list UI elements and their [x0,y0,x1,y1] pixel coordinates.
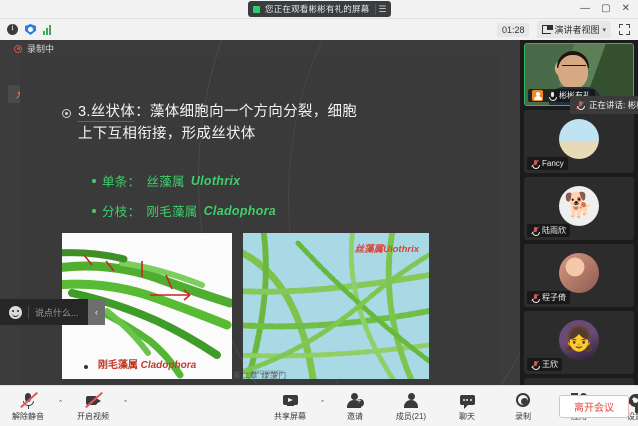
participant-rail[interactable]: 彬彬有礼 Fancy 陆雨欣 程子倚 [520,40,638,385]
subitem-1-latin: Ulothrix [191,174,241,188]
presentation-slide: 3.丝状体：藻体细胞向一个方向分裂，细胞 上下互相衔接，形成丝状体 单条： 丝藻… [20,57,500,385]
cladophora-label: 刚毛藻属 Cladophora [98,356,196,371]
info-icon[interactable] [7,24,18,35]
mic-options-chevron-icon[interactable]: ⌃ [56,399,65,407]
chat-label: 聊天 [459,411,475,422]
close-button[interactable]: ✕ [622,4,630,14]
ulothrix-artwork: microscopy [243,233,429,379]
share-options-chevron-icon[interactable]: ⌃ [318,399,327,407]
participant-name: 王欣 [542,359,558,370]
speaking-mic-icon [576,101,584,109]
slide-heading-row: 3.丝状体：藻体细胞向一个方向分裂，细胞 上下互相衔接，形成丝状体 [62,102,462,146]
avatar [559,119,599,159]
chat-icon [459,392,476,409]
record-icon [515,392,532,409]
participant-namebar: Fancy [527,157,568,170]
invite-button[interactable]: 邀请 [327,386,383,426]
subitem-2-latin: Cladophora [204,204,276,218]
share-notice-text: 您正在观看彬彬有礼的屏幕 [265,3,369,15]
participant-name: 陆雨欣 [542,225,566,236]
subitem-2-genus: 刚毛藻属 [146,201,197,220]
signal-icon[interactable] [43,24,54,35]
host-badge-icon [532,90,543,101]
meeting-toolbar: 解除静音 ⌃ 开启视频 ⌃ [0,385,638,426]
share-screen-label: 共享屏幕 [274,411,306,422]
participant-tile[interactable]: 程子倚 [524,244,634,307]
emoji-icon[interactable] [9,306,22,319]
participants-button[interactable]: 成员(21) [383,386,439,426]
window-controls: — ▢ ✕ [580,0,634,18]
title-bar: 您正在观看彬彬有礼的屏幕 ☰ — ▢ ✕ [0,0,638,18]
participant-namebar: 王欣 [527,358,562,371]
slide-heading: 3.丝状体：藻体细胞向一个方向分裂，细胞 上下互相衔接，形成丝状体 [78,102,357,146]
participant-tile[interactable]: Fancy [524,110,634,173]
camera-off-icon [85,392,102,409]
chevron-down-icon: ▾ [602,26,606,34]
participants-icon [403,392,420,409]
view-mode-label: 演讲者视图 [554,23,599,36]
leave-meeting-button[interactable]: 离开会议 [559,395,629,418]
status-left-icons [0,24,54,35]
mic-muted-icon [531,294,539,302]
subitem-1-prefix: 单条： [102,171,140,190]
shared-screen-stage[interactable]: 录制中 📌 锁定画面 3.丝状体：藻体细胞向一个方向分裂，细胞 上下互相衔接，形… [0,40,520,385]
meeting-status-bar: 01:28 演讲者视图 ▾ [0,18,638,40]
mic-icon [548,92,556,100]
zoom-meeting-window: 您正在观看彬彬有礼的屏幕 ☰ — ▢ ✕ 01:28 演讲者视图 ▾ [0,0,638,426]
participants-label: 成员(21) [396,411,426,422]
chat-collapse-button[interactable]: ‹ [88,299,105,325]
start-video-label: 开启视频 [77,411,109,422]
record-label: 录制 [515,411,531,422]
invite-label: 邀请 [347,411,363,422]
toolbar-buttons: 解除静音 ⌃ 开启视频 ⌃ [0,386,638,426]
share-menu-icon[interactable]: ☰ [375,4,386,15]
slide-subitem-2: 分枝： 刚毛藻属 Cladophora [92,201,276,220]
unmute-button[interactable]: 解除静音 [0,386,56,426]
participant-name: 程子倚 [542,292,566,303]
meeting-timer: 01:28 [497,23,530,37]
participant-tile[interactable]: プロバパ [524,378,634,385]
mic-muted-icon [531,160,539,168]
chat-input-placeholder[interactable]: 说点什么... [28,306,79,319]
view-mode-selector[interactable]: 演讲者视图 ▾ [537,21,611,38]
slide-heading-underlined: 3.丝状体 [78,104,135,122]
mic-muted-icon [20,392,37,409]
speaking-tooltip: 正在讲话: 彬彬 [570,96,638,114]
participant-tile[interactable]: 陆雨欣 [524,177,634,240]
unmute-label: 解除静音 [12,411,44,422]
invite-icon [347,392,364,409]
slide-heading-line2: 上下互相衔接，形成丝状体 [78,126,256,142]
maximize-button[interactable]: ▢ [601,4,610,14]
participant-namebar: 陆雨欣 [527,224,570,237]
screen-share-notice[interactable]: 您正在观看彬彬有礼的屏幕 ☰ [248,1,391,17]
speaking-tooltip-text: 正在讲话: 彬彬 [589,99,638,111]
subitem-2-prefix: 分枝： [102,201,140,220]
mic-muted-icon [531,361,539,369]
record-button[interactable]: 录制 [495,386,551,426]
status-right-controls: 01:28 演讲者视图 ▾ [497,21,638,38]
shield-icon[interactable] [25,24,36,35]
subitem-1-genus: 丝藻属 [146,171,184,190]
avatar [559,320,599,360]
slide-footer: 第二章 绿藻门 [20,370,500,381]
share-indicator-icon [253,6,260,13]
participant-name: Fancy [542,159,564,168]
avatar [559,186,599,226]
chat-button[interactable]: 聊天 [439,386,495,426]
recording-label: 录制中 [27,42,54,55]
share-screen-button[interactable]: 共享屏幕 [262,386,318,426]
ulothrix-label: 丝藻属Ulothrix [355,241,419,255]
speaker-view-icon [542,25,551,34]
bullet-icon [62,109,71,118]
avatar [559,253,599,293]
mic-muted-icon [531,227,539,235]
start-video-button[interactable]: 开启视频 [65,386,121,426]
subbullet-icon [92,179,96,183]
minimize-button[interactable]: — [580,4,590,14]
participant-tile[interactable]: 王欣 [524,311,634,374]
micrograph-ulothrix: microscopy 丝藻属Ulothrix [243,233,429,379]
camera-options-chevron-icon[interactable]: ⌃ [121,399,130,407]
subbullet-icon [92,209,96,213]
participant-namebar: 程子倚 [527,291,570,304]
recording-icon [14,45,22,53]
share-screen-icon [282,392,299,409]
fullscreen-icon[interactable] [619,24,630,35]
slide-heading-rest: ：藻体细胞向一个方向分裂，细胞 [135,104,357,120]
slide-subitem-1: 单条： 丝藻属 Ulothrix [92,171,240,190]
